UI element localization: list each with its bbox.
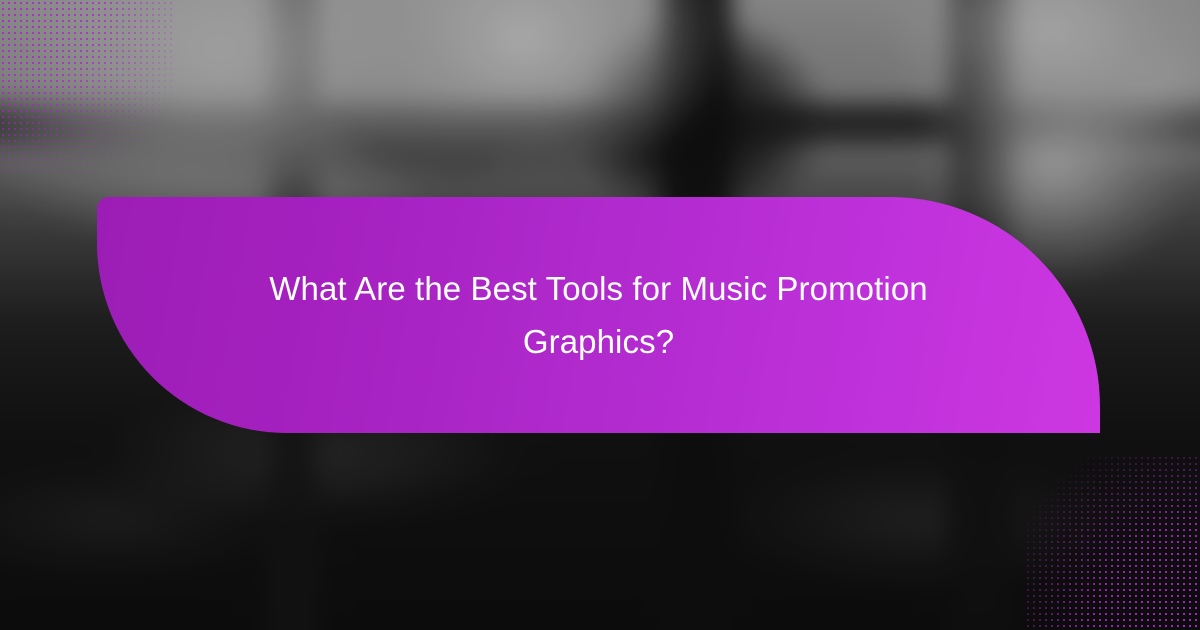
promo-banner: What Are the Best Tools for Music Promot…	[0, 0, 1200, 630]
page-title: What Are the Best Tools for Music Promot…	[227, 262, 970, 369]
title-card: What Are the Best Tools for Music Promot…	[97, 197, 1100, 433]
